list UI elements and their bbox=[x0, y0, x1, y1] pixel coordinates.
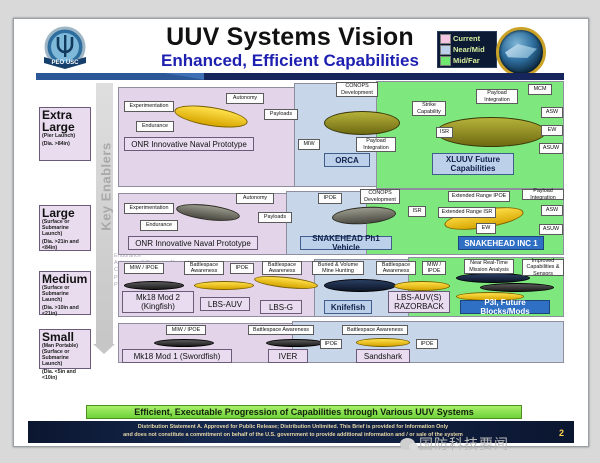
callout-battlespace-awareness-s1: Battlespace Awareness bbox=[248, 325, 314, 335]
row-label-extra-large: Extra Large (Pier Launch) (Dia. >84in) bbox=[39, 107, 91, 161]
capability-matrix: Key Enablers Endurance Autonomy & Precis… bbox=[36, 81, 564, 403]
callout-mcm: MCM bbox=[528, 84, 552, 95]
row-diameter: (Dia. >84in) bbox=[42, 141, 88, 147]
legend-label-near-mid: Near/Mid bbox=[453, 45, 485, 54]
legend-label-mid-far: Mid/Far bbox=[453, 56, 480, 65]
callout-miw-ipoe-medium: MIW / IPOE bbox=[124, 263, 164, 274]
system-lbs-g[interactable]: LBS-G bbox=[260, 300, 302, 314]
system-onr-inp-large[interactable]: ONR Innovative Naval Prototype bbox=[128, 236, 258, 250]
system-sandshark[interactable]: Sandshark bbox=[356, 349, 410, 363]
vehicle-orca bbox=[324, 111, 400, 135]
callout-asw-xl: ASW bbox=[541, 107, 563, 118]
wechat-icon bbox=[400, 438, 415, 450]
phase-legend: Current Near/Mid Mid/Far bbox=[437, 31, 497, 68]
callout-ipoe-medium: IPOE bbox=[230, 263, 254, 274]
key-enablers-label: Key Enablers bbox=[99, 122, 114, 252]
callout-isr-xl: ISR bbox=[436, 127, 453, 138]
legend-item-mid-far: Mid/Far bbox=[440, 55, 494, 66]
callout-autonomy-large: Autonomy bbox=[236, 193, 274, 204]
callout-extended-range-ipoe: Extended Range IPOE bbox=[448, 191, 510, 202]
vehicle-sandshark bbox=[356, 338, 410, 347]
row-name: Extra Large bbox=[42, 109, 88, 133]
callout-experimentation: Experimentation bbox=[124, 101, 174, 112]
vehicle-mk18-mod1 bbox=[154, 339, 214, 347]
system-knifefish[interactable]: Knifefish bbox=[324, 300, 372, 314]
callout-autonomy: Autonomy bbox=[226, 93, 264, 104]
system-iver[interactable]: IVER bbox=[268, 349, 308, 363]
vehicle-p3i-1 bbox=[456, 273, 530, 283]
row-name: Large bbox=[42, 207, 88, 219]
callout-ipoe-large: IPOE bbox=[318, 193, 342, 204]
vehicle-mk18-mod2 bbox=[124, 281, 184, 290]
slide-subtitle: Enhanced, Efficient Capabilities bbox=[110, 51, 470, 71]
page-number: 2 bbox=[559, 428, 564, 438]
callout-miw-ipoe-small: MIW / IPOE bbox=[166, 325, 206, 335]
callout-payload-integration-large: Payload Integration bbox=[522, 189, 564, 200]
system-orca[interactable]: ORCA bbox=[324, 153, 370, 167]
callout-battlespace-awareness-m3: Battlespace Awareness bbox=[376, 261, 416, 275]
legend-label-current: Current bbox=[453, 34, 480, 43]
key-enablers-arrow-icon: Key Enablers bbox=[96, 83, 113, 345]
system-snakehead-ph1[interactable]: SNAKEHEAD Ph1 Vehicle bbox=[300, 236, 392, 250]
callout-experimentation-large: Experimentation bbox=[124, 203, 174, 214]
system-razorback[interactable]: LBS-AUV(S) RAZORBACK bbox=[388, 291, 450, 313]
callout-ew-large: EW bbox=[476, 223, 496, 234]
callout-payload-integration-xl: Payload Integration bbox=[476, 89, 518, 104]
program-office-seal-icon bbox=[496, 27, 546, 77]
row-label-medium: Medium (Surface or Submarine Launch) (Di… bbox=[39, 271, 91, 315]
system-mk18-mod2[interactable]: Mk18 Mod 2 (Kingfish) bbox=[122, 291, 194, 313]
vehicle-lbs-auv bbox=[194, 281, 254, 290]
callout-ipoe-small-2: IPOE bbox=[416, 339, 438, 349]
summary-banner: Efficient, Executable Progression of Cap… bbox=[86, 405, 522, 419]
distribution-line-1: Distribution Statement A. Approved for P… bbox=[58, 424, 528, 432]
callout-battlespace-awareness-m2: Battlespace Awareness bbox=[262, 261, 302, 275]
row-name: Small bbox=[42, 331, 88, 343]
watermark-text: 国防科技要闻 bbox=[419, 434, 509, 454]
vehicle-p3i-2 bbox=[480, 283, 554, 292]
system-snakehead-inc1[interactable]: SNAKEHEAD INC 1 bbox=[458, 236, 544, 250]
slide-header: PEO USC UUV Systems Vision Enhanced, Eff… bbox=[14, 19, 588, 77]
callout-extended-range-isr: Extended Range ISR bbox=[438, 207, 496, 218]
callout-ipoe-small: IPOE bbox=[320, 339, 342, 349]
callout-ew-xl: EW bbox=[541, 125, 563, 136]
legend-swatch-current bbox=[440, 34, 451, 44]
callout-payloads: Payloads bbox=[264, 109, 298, 120]
row-label-small: Small (Man Portable) (Surface or Submari… bbox=[39, 329, 91, 369]
row-name: Medium bbox=[42, 273, 88, 285]
row-label-large: Large (Surface or Submarine Launch) (Dia… bbox=[39, 205, 91, 251]
callout-improved-capabilities-sensors: Improved Capabilities & Sensors bbox=[522, 259, 564, 276]
slide-title: UUV Systems Vision bbox=[110, 23, 470, 52]
callout-battlespace-awareness-m1: Battlespace Awareness bbox=[184, 261, 224, 275]
row-launch: (Surface or Submarine Launch) bbox=[42, 219, 88, 237]
callout-payloads-large: Payloads bbox=[258, 212, 292, 223]
callout-miw-ipoe-medium-2: MIW / IPOE bbox=[422, 261, 446, 275]
callout-asw-large: ASW bbox=[541, 205, 563, 216]
legend-item-near-mid: Near/Mid bbox=[440, 44, 494, 55]
header-rule-accent bbox=[164, 73, 206, 80]
peo-usc-logo: PEO USC bbox=[38, 25, 92, 73]
callout-isr-large: ISR bbox=[408, 206, 426, 217]
row-diameter: (Dia. <5in and <10in) bbox=[42, 369, 88, 381]
callout-buried-volume-mine-hunting: Buried & Volume Mine Hunting bbox=[312, 261, 364, 275]
row-launch: (Surface or Submarine Launch) bbox=[42, 285, 88, 303]
vehicle-knifefish bbox=[324, 279, 396, 292]
callout-asuw-xl: ASUW bbox=[539, 143, 563, 154]
row-diameter: (Dia. >10in and <21in) bbox=[42, 305, 88, 317]
row-diameter: (Dia. >21in and <84in) bbox=[42, 239, 88, 251]
callout-battlespace-awareness-s2: Battlespace Awareness bbox=[342, 325, 408, 335]
callout-miw-xl: MIW bbox=[298, 139, 320, 150]
legend-swatch-mid-far bbox=[440, 56, 451, 66]
system-onr-inp-xl[interactable]: ONR Innovative Naval Prototype bbox=[124, 137, 254, 151]
callout-conops-development: CONOPS Development bbox=[336, 82, 378, 97]
system-p3i-future-blocks[interactable]: P3I, Future Blocks/Mods bbox=[460, 300, 550, 314]
screenshot-root: PEO USC UUV Systems Vision Enhanced, Eff… bbox=[0, 0, 600, 463]
system-lbs-auv[interactable]: LBS-AUV bbox=[200, 297, 250, 311]
vehicle-iver bbox=[266, 339, 324, 347]
callout-endurance: Endurance bbox=[136, 121, 174, 132]
header-rule-dark bbox=[204, 73, 564, 80]
watermark: 国防科技要闻 bbox=[400, 434, 509, 454]
row-launch: (Man Portable) (Surface or Submarine Lau… bbox=[42, 343, 88, 367]
legend-swatch-near-mid bbox=[440, 45, 451, 55]
callout-asuw-large: ASUW bbox=[539, 224, 563, 235]
callout-endurance-large: Endurance bbox=[140, 220, 178, 231]
svg-text:PEO USC: PEO USC bbox=[51, 60, 79, 66]
row-launch: (Pier Launch) bbox=[42, 133, 88, 139]
vehicle-razorback bbox=[394, 281, 450, 291]
system-xluuv-future[interactable]: XLUUV Future Capabilities bbox=[432, 153, 514, 175]
slide: PEO USC UUV Systems Vision Enhanced, Eff… bbox=[13, 18, 589, 447]
legend-item-current: Current bbox=[440, 33, 494, 44]
callout-payload-integration-orca: Payload Integration bbox=[356, 137, 396, 152]
callout-conops-development-large: CONOPS Development bbox=[360, 189, 400, 204]
system-mk18-mod1[interactable]: Mk18 Mod 1 (Swordfish) bbox=[122, 349, 232, 363]
callout-near-real-time-mission-analysis: Near Real-Time Mission Analysis bbox=[464, 259, 514, 274]
callout-strike-capability: Strike Capability bbox=[412, 101, 446, 116]
